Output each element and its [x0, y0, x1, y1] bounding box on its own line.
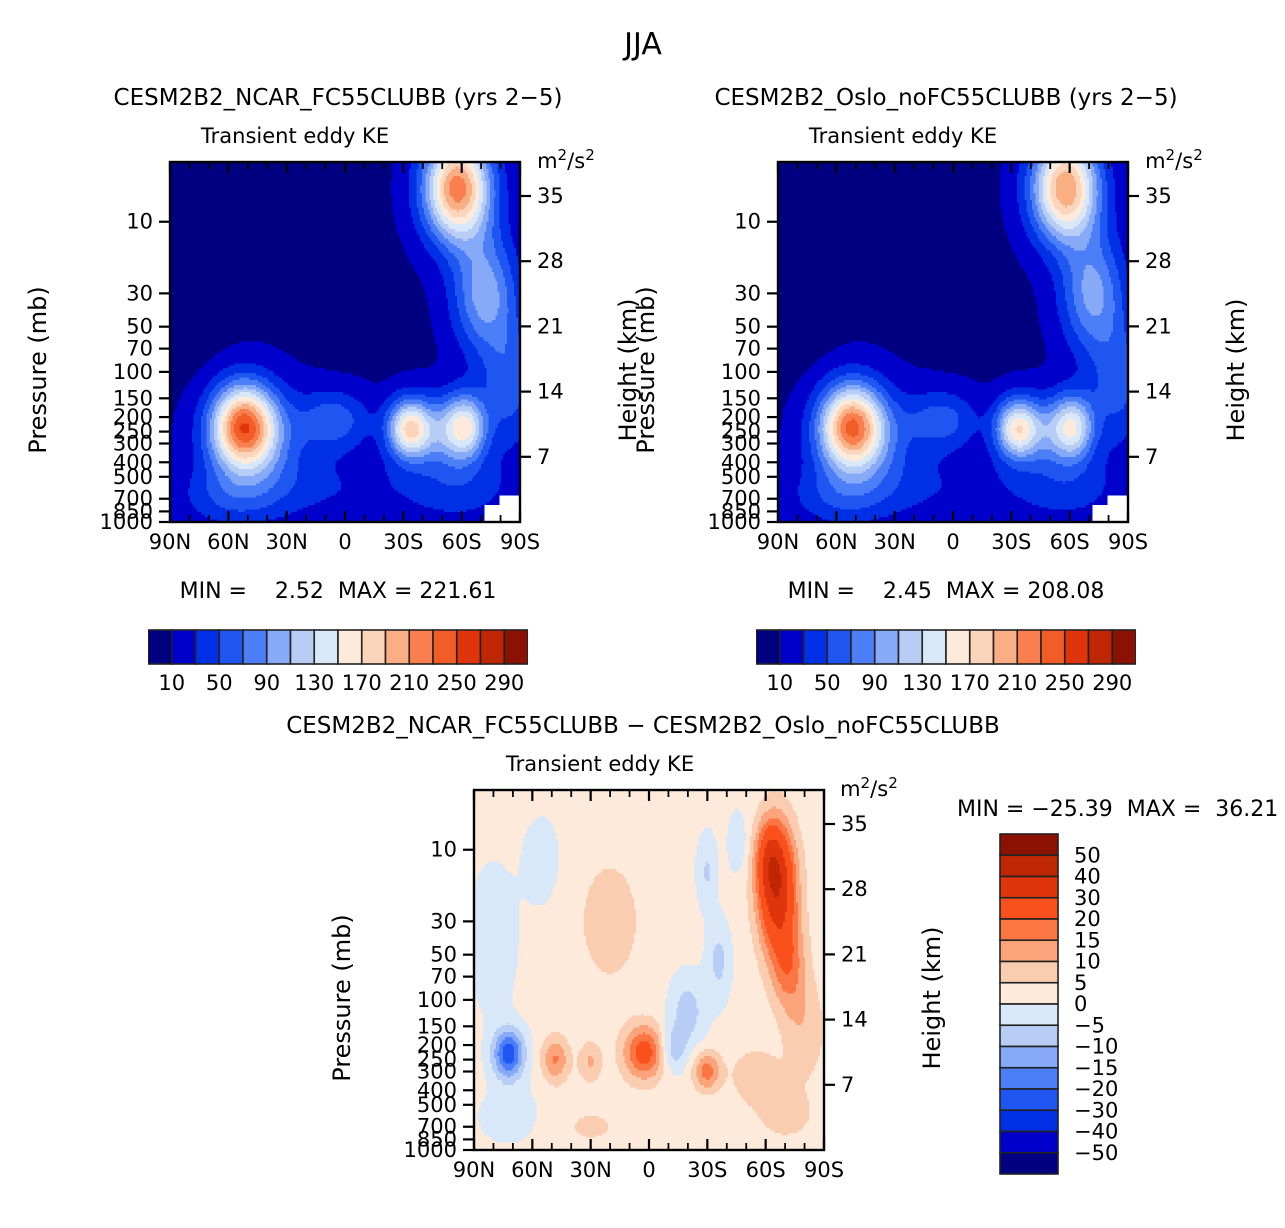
svg-text:70: 70 — [734, 337, 761, 361]
svg-text:30: 30 — [734, 281, 761, 305]
y-axis-title-pressure-right: Pressure (mb) — [632, 286, 660, 453]
svg-text:250: 250 — [437, 671, 477, 695]
svg-text:10: 10 — [158, 671, 185, 695]
svg-text:90S: 90S — [1108, 530, 1148, 554]
svg-text:7: 7 — [537, 445, 550, 469]
svg-text:10: 10 — [126, 210, 153, 234]
svg-text:21: 21 — [1145, 314, 1172, 338]
svg-text:70: 70 — [126, 337, 153, 361]
svg-text:28: 28 — [537, 249, 564, 273]
svg-text:35: 35 — [1145, 184, 1172, 208]
svg-text:130: 130 — [294, 671, 334, 695]
svg-text:10: 10 — [734, 210, 761, 234]
svg-text:170: 170 — [342, 671, 382, 695]
svg-text:30N: 30N — [873, 530, 915, 554]
svg-text:1000: 1000 — [708, 510, 761, 534]
svg-text:290: 290 — [1092, 671, 1132, 695]
svg-text:21: 21 — [537, 314, 564, 338]
colorbar-top-left: 105090130170210250290 — [148, 628, 528, 703]
svg-text:60S: 60S — [442, 530, 482, 554]
svg-text:90: 90 — [253, 671, 280, 695]
svg-text:90N: 90N — [757, 530, 799, 554]
svg-text:35: 35 — [537, 184, 564, 208]
svg-text:250: 250 — [1045, 671, 1085, 695]
svg-text:500: 500 — [721, 465, 761, 489]
svg-text:0: 0 — [338, 530, 351, 554]
panel-title-top-right: CESM2B2_Oslo_noFC55CLUBB (yrs 2−5) — [714, 85, 1177, 111]
svg-text:0: 0 — [946, 530, 959, 554]
svg-text:210: 210 — [997, 671, 1037, 695]
panel-title-diff: CESM2B2_NCAR_FC55CLUBB − CESM2B2_Oslo_no… — [286, 713, 1000, 739]
season-title: JJA — [624, 27, 662, 62]
svg-text:10: 10 — [766, 671, 793, 695]
svg-text:14: 14 — [537, 380, 564, 404]
svg-text:50: 50 — [126, 315, 153, 339]
svg-text:60S: 60S — [1050, 530, 1090, 554]
minmax-top-right: MIN = 2.45 MAX = 208.08 — [788, 579, 1105, 604]
svg-text:100: 100 — [113, 360, 153, 384]
contour-plot-top-left: 90N60N30N030S60S90S103050701001502002503… — [60, 140, 620, 570]
svg-text:14: 14 — [1145, 380, 1172, 404]
svg-text:90: 90 — [861, 671, 888, 695]
svg-text:30S: 30S — [991, 530, 1031, 554]
svg-text:30: 30 — [126, 281, 153, 305]
svg-text:50: 50 — [814, 671, 841, 695]
y-axis-title-pressure-diff: Pressure (mb) — [328, 914, 356, 1081]
svg-text:60N: 60N — [207, 530, 249, 554]
svg-text:170: 170 — [950, 671, 990, 695]
svg-text:60N: 60N — [815, 530, 857, 554]
svg-text:100: 100 — [721, 360, 761, 384]
svg-text:90N: 90N — [149, 530, 191, 554]
svg-text:90S: 90S — [500, 530, 540, 554]
contour-plot-top-right: 90N60N30N030S60S90S103050701001502002503… — [668, 140, 1228, 570]
svg-text:50: 50 — [206, 671, 233, 695]
svg-text:7: 7 — [1145, 445, 1158, 469]
y-axis-title-pressure-left: Pressure (mb) — [24, 286, 52, 453]
svg-text:500: 500 — [113, 465, 153, 489]
contour-plot-diff: 90N60N30N030S60S90S103050701001502002503… — [364, 768, 924, 1228]
svg-text:290: 290 — [484, 671, 524, 695]
minmax-top-left: MIN = 2.52 MAX = 221.61 — [180, 579, 497, 604]
svg-text:30N: 30N — [265, 530, 307, 554]
svg-text:30S: 30S — [383, 530, 423, 554]
colorbar-top-right: 105090130170210250290 — [756, 628, 1136, 703]
svg-text:130: 130 — [902, 671, 942, 695]
panel-title-top-left: CESM2B2_NCAR_FC55CLUBB (yrs 2−5) — [114, 85, 563, 111]
svg-text:210: 210 — [389, 671, 429, 695]
minmax-diff: MIN = −25.39 MAX = 36.21 — [957, 797, 1278, 822]
svg-text:50: 50 — [734, 315, 761, 339]
colorbar-diff: 50403020151050−5−10−15−20−30−40−50 — [998, 830, 1168, 1210]
svg-text:28: 28 — [1145, 249, 1172, 273]
svg-text:1000: 1000 — [100, 510, 153, 534]
